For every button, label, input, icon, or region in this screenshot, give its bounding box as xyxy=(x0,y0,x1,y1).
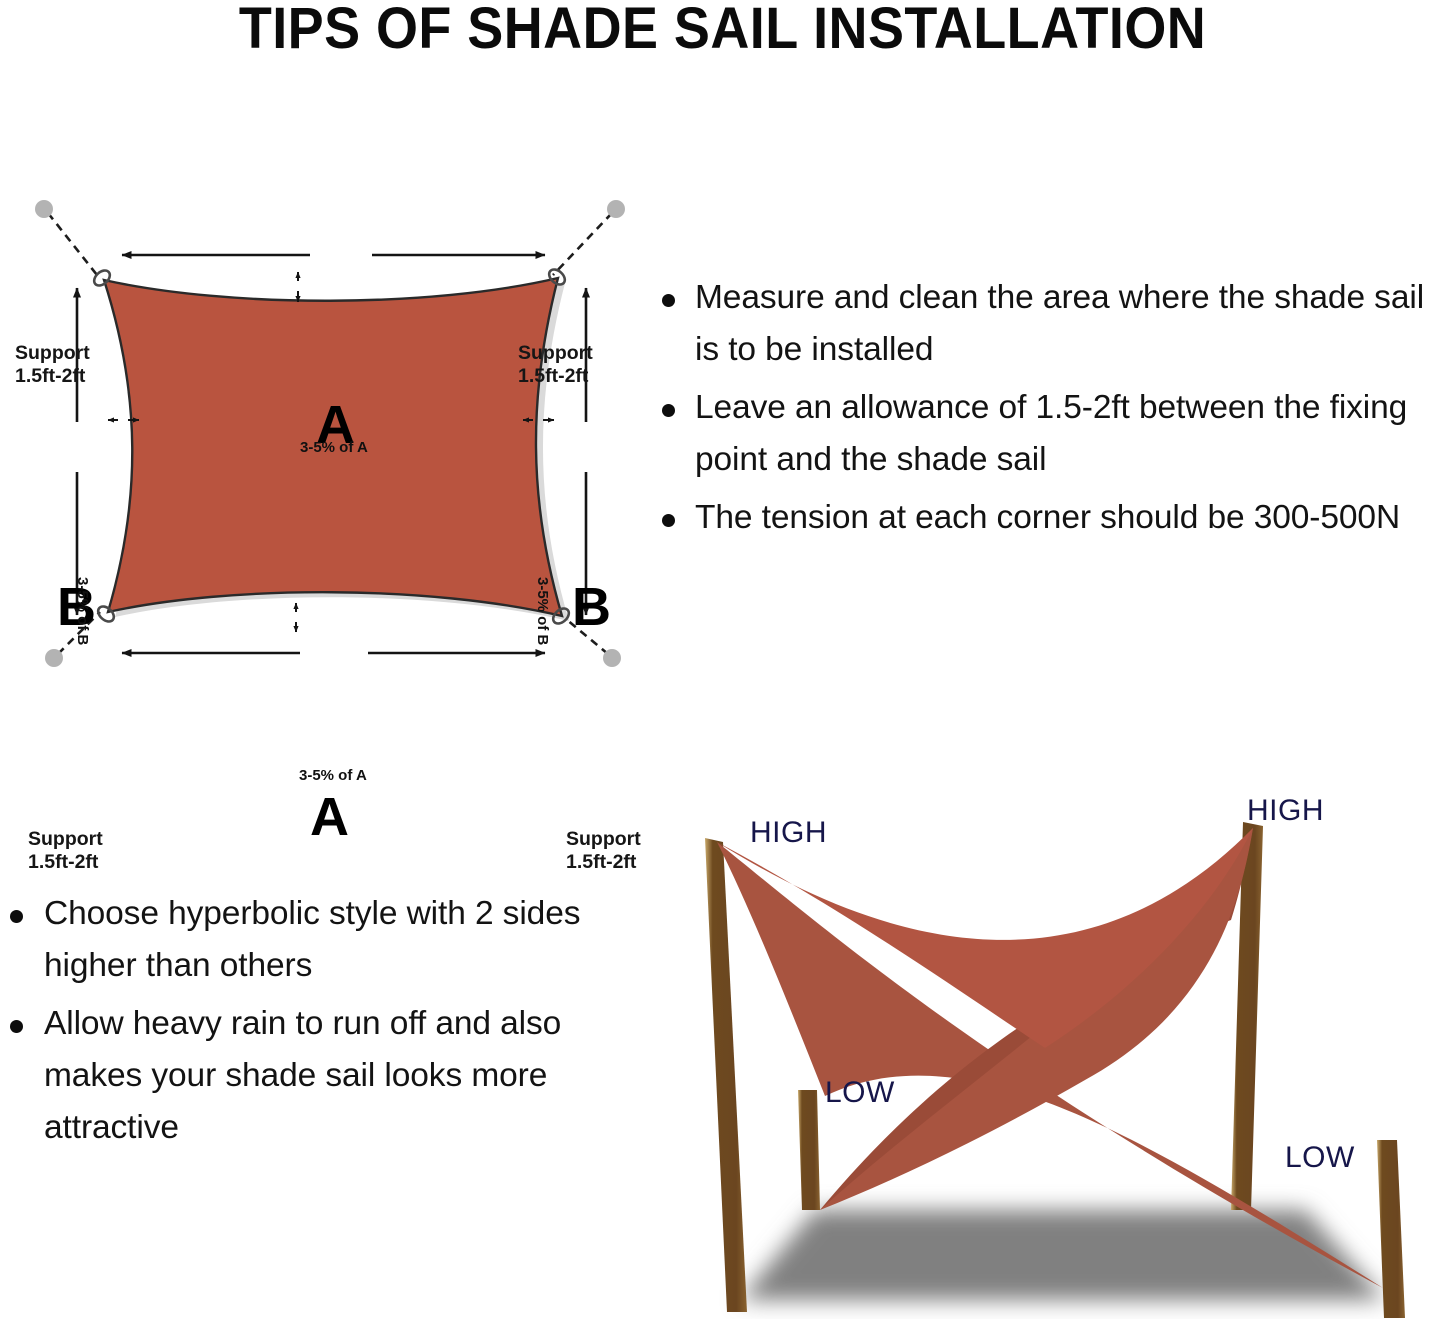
support-label-line2: 1.5ft-2ft xyxy=(518,365,588,387)
support-label-line1: Support xyxy=(518,342,593,364)
bullet-list: Measure and clean the area where the sha… xyxy=(648,272,1445,544)
bullet-list: Choose hyperbolic style with 2 sides hig… xyxy=(0,888,630,1154)
bullet-dot-icon xyxy=(662,294,675,307)
label-low-left: LOW xyxy=(825,1077,895,1109)
list-item-text: The tension at each corner should be 300… xyxy=(695,499,1400,536)
support-label-line2: 1.5ft-2ft xyxy=(28,851,98,873)
support-label-line2: 1.5ft-2ft xyxy=(15,365,85,387)
bullet-dot-icon xyxy=(662,514,675,527)
post-high-left xyxy=(705,838,747,1312)
curve-label-b-right: 3-5% of B xyxy=(534,577,551,645)
ground-shadow xyxy=(740,1210,1385,1300)
label-high-left: HIGH xyxy=(750,817,827,849)
list-item: Leave an allowance of 1.5-2ft between th… xyxy=(648,382,1445,486)
support-dot-top-left xyxy=(35,200,53,218)
support-label-line2: 1.5ft-2ft xyxy=(566,851,636,873)
bullet-dot-icon xyxy=(10,910,23,923)
list-item-text: Allow heavy rain to run off and also mak… xyxy=(44,1005,561,1146)
post-low-right xyxy=(1377,1140,1405,1318)
support-label-top-right: Support 1.5ft-2ft xyxy=(518,342,593,388)
installation-tips-list-left: Choose hyperbolic style with 2 sides hig… xyxy=(0,888,630,1160)
bullet-dot-icon xyxy=(662,404,675,417)
curve-label-a-top: 3-5% of A xyxy=(300,439,368,456)
support-label-line1: Support xyxy=(15,342,90,364)
support-label-bottom-right: Support 1.5ft-2ft xyxy=(566,828,641,874)
list-item-text: Measure and clean the area where the sha… xyxy=(695,279,1424,368)
page-title: TIPS OF SHADE SAIL INSTALLATION xyxy=(51,0,1395,60)
support-label-line1: Support xyxy=(28,828,103,850)
tether-top-left xyxy=(48,213,97,275)
list-item: The tension at each corner should be 300… xyxy=(648,492,1445,544)
list-item: Choose hyperbolic style with 2 sides hig… xyxy=(0,888,630,992)
list-item-text: Leave an allowance of 1.5-2ft between th… xyxy=(695,389,1407,478)
infographic-page: TIPS OF SHADE SAIL INSTALLATION xyxy=(0,0,1445,1319)
hyperbolic-sail-illustration: HIGH HIGH LOW LOW xyxy=(665,780,1445,1319)
post-low-left xyxy=(798,1090,820,1210)
support-label-line1: Support xyxy=(566,828,641,850)
curve-label-b-left: 3-5% of B xyxy=(74,577,91,645)
list-item: Measure and clean the area where the sha… xyxy=(648,272,1445,376)
support-dot-bottom-left xyxy=(45,649,63,667)
label-low-right: LOW xyxy=(1285,1142,1355,1174)
list-item-text: Choose hyperbolic style with 2 sides hig… xyxy=(44,895,580,984)
rectangular-sail-diagram: Support 1.5ft-2ft Support 1.5ft-2ft Supp… xyxy=(0,160,660,730)
support-dot-top-right xyxy=(607,200,625,218)
support-label-bottom-left: Support 1.5ft-2ft xyxy=(28,828,103,874)
bullet-dot-icon xyxy=(10,1020,23,1033)
hyperbolic-sail-svg xyxy=(665,780,1445,1319)
installation-tips-list-right: Measure and clean the area where the sha… xyxy=(648,272,1445,550)
tether-top-right xyxy=(553,213,612,275)
support-label-top-left: Support 1.5ft-2ft xyxy=(15,342,90,388)
list-item: Allow heavy rain to run off and also mak… xyxy=(0,998,630,1154)
label-high-right: HIGH xyxy=(1247,795,1324,827)
dimension-letter-b-right: B xyxy=(572,580,611,634)
support-dot-bottom-right xyxy=(603,649,621,667)
curve-label-a-bottom: 3-5% of A xyxy=(299,767,367,784)
dimension-letter-a-bottom: A xyxy=(310,790,349,844)
